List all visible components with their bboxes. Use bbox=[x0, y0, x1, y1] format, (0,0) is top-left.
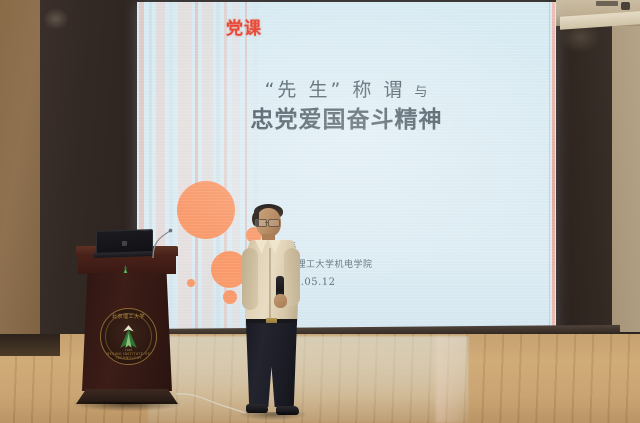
presenter-shirt-placket bbox=[269, 248, 271, 322]
slide-title-line-1-main: “先 生” 称 谓 bbox=[265, 79, 406, 101]
projection-screen: 党课 “先 生” 称 谓 与 忠党爱国奋斗精神 伟 京理工大学机电学院 19.0… bbox=[137, 2, 556, 332]
presenter-hand bbox=[274, 294, 287, 308]
floor-shadow-left bbox=[0, 334, 60, 356]
wall-panel-left-tan bbox=[0, 0, 42, 340]
presenter-floor-shadow bbox=[240, 412, 306, 420]
slide-title-block: “先 生” 称 谓 与 忠党爱国奋斗精神 bbox=[137, 78, 556, 136]
slide-stripe-6 bbox=[202, 2, 213, 332]
slide-circle-large bbox=[177, 181, 235, 239]
presenter-trousers bbox=[245, 323, 298, 407]
wall-panel-right-dark bbox=[552, 0, 616, 330]
presenter-arm-left bbox=[242, 248, 258, 310]
slide-stripe-5 bbox=[195, 2, 198, 332]
lecture-hall-scene: 党课 “先 生” 称 谓 与 忠党爱国奋斗精神 伟 京理工大学机电学院 19.0… bbox=[0, 0, 640, 423]
podium-university-seal: 北京理工大学 1940 BEIJING INSTITUTE OF TECHNOL… bbox=[100, 308, 157, 365]
slide-kicker-label: 党课 bbox=[226, 21, 262, 38]
laptop-logo-icon bbox=[122, 240, 127, 245]
wall-panel-far-right-tan bbox=[612, 0, 640, 332]
slide-title-line-2: 忠党爱国奋斗精神 bbox=[137, 106, 556, 136]
ceiling-light-fitting bbox=[621, 2, 630, 10]
podium-floor-shadow bbox=[74, 402, 180, 411]
seal-english-text: BEIJING INSTITUTE OF TECHNOLOGY bbox=[101, 352, 156, 360]
ceiling-duct bbox=[596, 1, 618, 6]
floor-screen-reflection-edge bbox=[436, 336, 466, 423]
seal-chinese-text: 北京理工大学 bbox=[101, 313, 156, 320]
slide-title-line-1: “先 生” 称 谓 与 bbox=[137, 78, 556, 104]
slide-circle-tiny-left bbox=[187, 279, 195, 287]
presenter-figure bbox=[232, 198, 314, 420]
presenter-glasses-icon bbox=[255, 219, 282, 226]
slide-right-accent-line-2 bbox=[549, 2, 550, 332]
slide-right-accent-line bbox=[552, 2, 555, 332]
slide-title-line-1-conjunction: 与 bbox=[414, 85, 428, 100]
gooseneck-microphone-icon bbox=[150, 228, 174, 258]
lectern-podium: 北京理工大学 北京理工大学 1940 BEIJING INSTITUTE OF … bbox=[74, 246, 180, 418]
